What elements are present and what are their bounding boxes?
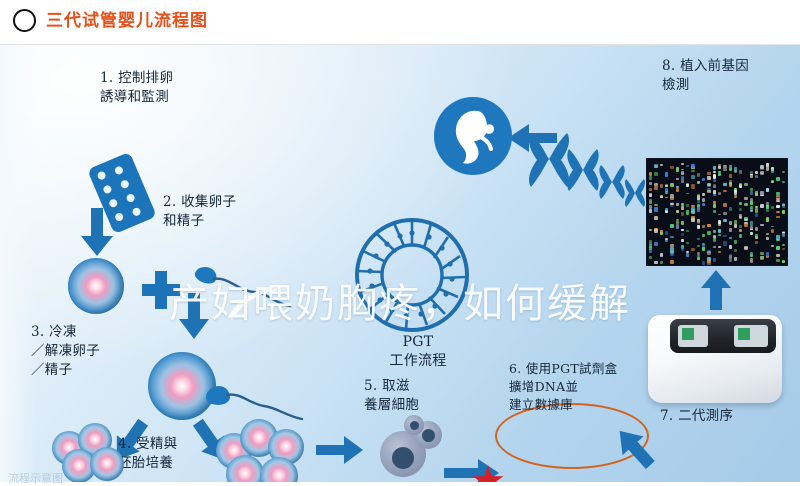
embryo-cluster-icon: [216, 419, 308, 482]
chromosome-icon-4: [624, 179, 646, 214]
dna-gel-icon: [646, 158, 788, 266]
chromosome-icon-3: [598, 165, 626, 206]
step-2-label: 2. 收集卵子 和精子: [163, 193, 236, 231]
step-8-label: 8. 植入前基因 檢測: [662, 57, 749, 95]
arrow-step1-to-step3: [80, 208, 114, 256]
fertilised-egg-icon: [148, 352, 216, 420]
step-6-label: 6. 使用PGT試劑盒 擴增DNA並 建立數據庫: [509, 360, 617, 414]
page-root: 三代试管婴儿流程图 1. 控制排卵 誘導和監測 2. 收集卵子 和精子: [0, 0, 800, 482]
pgt-center-title-line1: PGT: [383, 333, 453, 352]
fetus-icon: [434, 97, 512, 175]
page-title: 三代试管婴儿流程图: [46, 8, 208, 34]
chromosome-icon-2: [566, 149, 600, 198]
step-5-label: 5. 取滋 養層細胞: [364, 377, 419, 415]
page-header: 三代试管婴儿流程图: [0, 0, 800, 45]
arrow-to-fetus: [507, 124, 557, 154]
step-1-label: 1. 控制排卵 誘導和監測: [100, 69, 173, 107]
overlay-caption: 产妇喂奶胸疼，如何缓解: [0, 281, 800, 327]
step-3-label: 3. 冷凍 ／解凍卵子 ／精子: [31, 323, 100, 380]
red-star-icon: ★: [470, 463, 506, 482]
flowchart-illustration: 1. 控制排卵 誘導和監測 2. 收集卵子 和精子 3.: [0, 45, 800, 482]
step-7-label: 7. 二代測序: [660, 407, 733, 426]
arrow-step4-to-step5: [316, 435, 364, 465]
bottom-cut-text: 流程示意图: [8, 470, 63, 486]
background-gradient-edge: [0, 45, 36, 482]
step-4-label: 4. 受精與 胚胎培養: [118, 435, 177, 473]
circle-outline-icon: [13, 9, 36, 32]
embryo-cluster-left-icon: [52, 423, 126, 482]
pgt-center-title-line2: 工作流程: [378, 352, 458, 371]
